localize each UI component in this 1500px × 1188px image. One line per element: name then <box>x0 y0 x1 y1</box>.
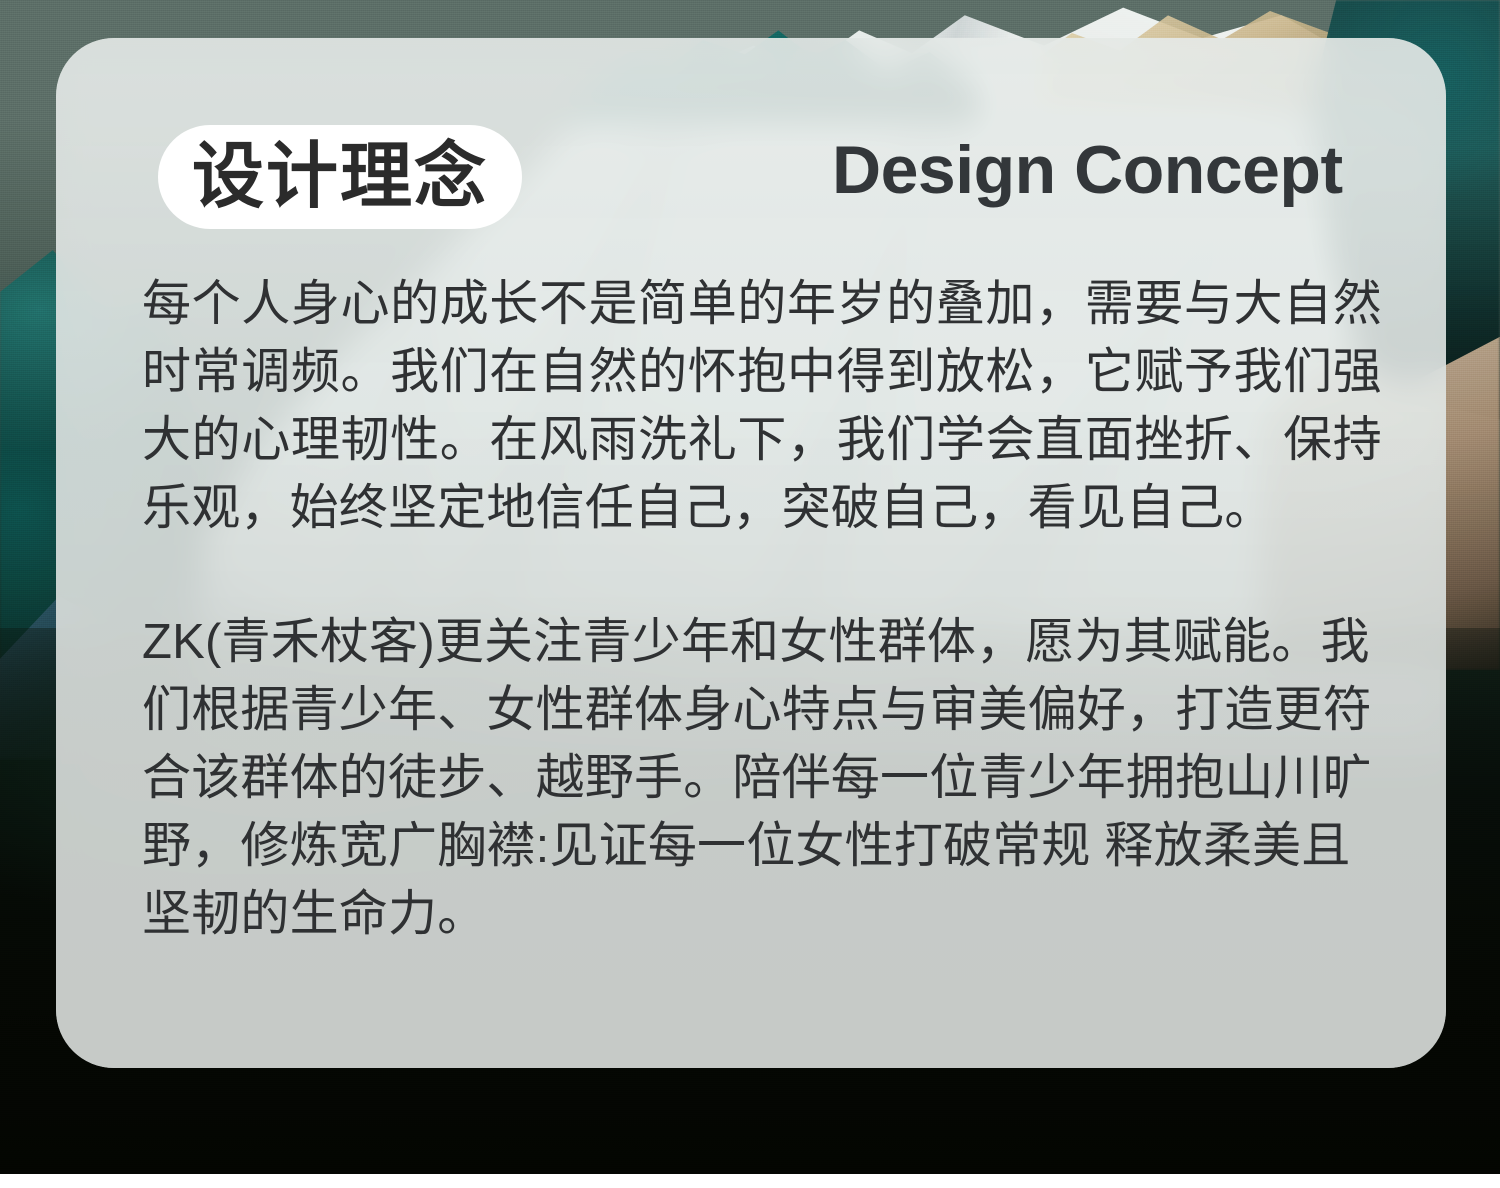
paragraph-1: 每个人身心的成长不是简单的年岁的叠加，需要与大自然时常调频。我们在自然的怀抱中得… <box>142 270 1382 542</box>
card-content: 设计理念 Design Concept 每个人身心的成长不是简单的年岁的叠加，需… <box>56 38 1446 238</box>
page-root: 设计理念 Design Concept 每个人身心的成长不是简单的年岁的叠加，需… <box>0 0 1500 1188</box>
page-title-en: Design Concept <box>832 133 1343 208</box>
page-title-cn: 设计理念 <box>192 141 488 213</box>
card-header: 设计理念 Design Concept <box>56 38 1446 238</box>
body-copy: 每个人身心的成长不是简单的年岁的叠加，需要与大自然时常调频。我们在自然的怀抱中得… <box>142 270 1382 948</box>
bottom-white-edge <box>0 1174 1500 1188</box>
title-pill-badge: 设计理念 <box>158 125 522 229</box>
design-concept-card: 设计理念 Design Concept 每个人身心的成长不是简单的年岁的叠加，需… <box>56 38 1446 1068</box>
paragraph-2: ZK(青禾杖客)更关注青少年和女性群体，愿为其赋能。我们根据青少年、女性群体身心… <box>142 608 1382 948</box>
